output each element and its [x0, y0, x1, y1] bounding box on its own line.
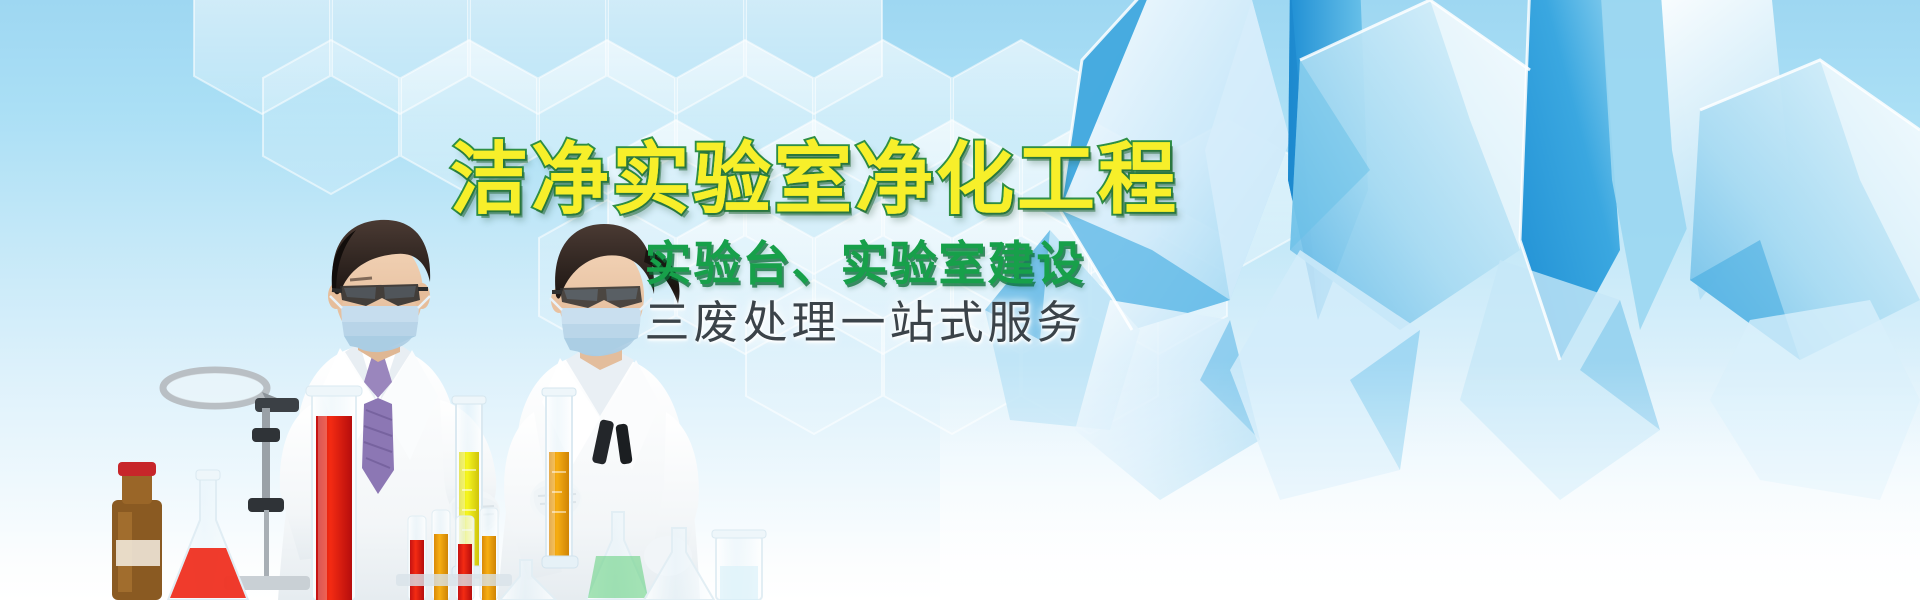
red-liquid-column [306, 386, 362, 600]
test-tube-orange [542, 388, 578, 568]
background-graphics [0, 0, 1920, 600]
lab-technicians-photo [112, 220, 766, 600]
erlenmeyer-flask-red [168, 470, 248, 600]
promo-banner: 洁净实验室净化工程 洁净实验室净化工程 实验台、实验室建设 三废处理一站式服务 [0, 0, 1920, 600]
female-scientist [498, 224, 700, 600]
background-svg [0, 0, 1920, 600]
crystal-cluster-icon [940, 0, 1920, 600]
reagent-bottle [112, 462, 162, 600]
